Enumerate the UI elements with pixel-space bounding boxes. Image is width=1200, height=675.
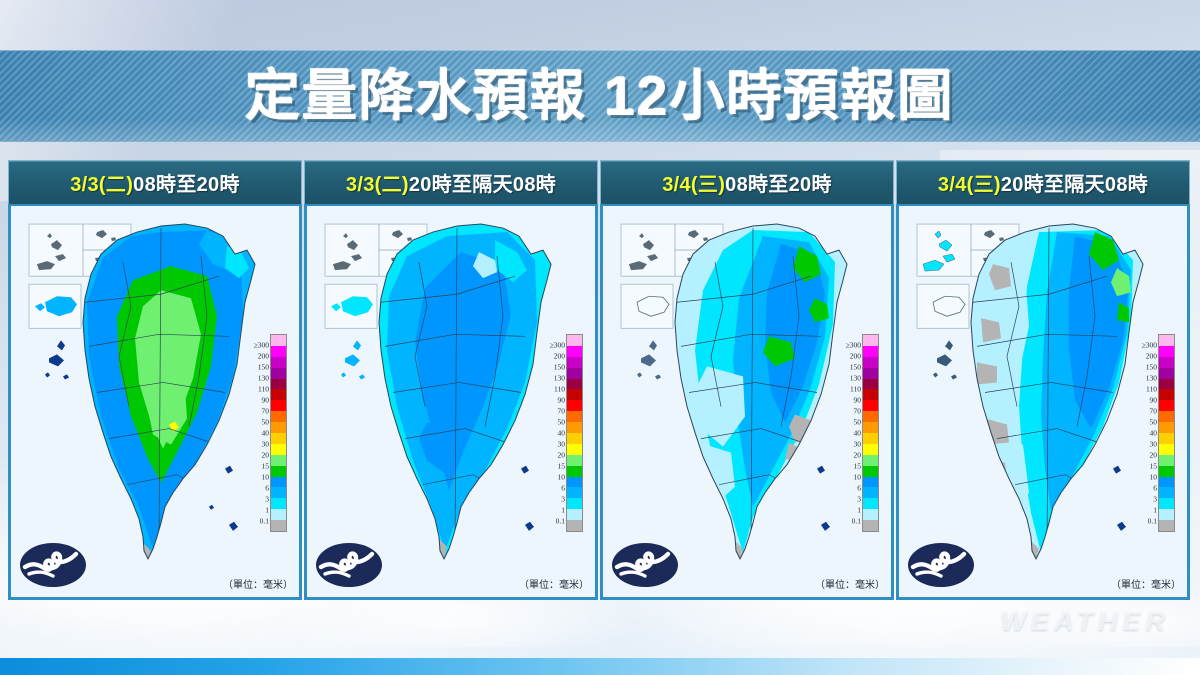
legend-swatch-7 — [271, 411, 286, 422]
forecast-panel-1[interactable]: 3/3(二)08時至20時 — [8, 160, 302, 600]
panel-1-header: 3/3(二)08時至20時 — [8, 160, 302, 204]
panel-3-legend: ≥30020015013011090705040302015106310.1 — [828, 334, 884, 532]
legend-label-11: 15 — [854, 461, 862, 470]
legend-swatch-0 — [863, 335, 878, 346]
legend-label-1: 200 — [258, 352, 269, 361]
legend-swatch-8 — [1159, 422, 1174, 433]
panel-2-header: 3/3(二)20時至隔天08時 — [304, 160, 598, 204]
legend-swatch-9 — [1159, 433, 1174, 444]
legend-label-2: 150 — [554, 362, 565, 371]
cwb-logo — [611, 541, 679, 589]
legend-swatch-3 — [567, 368, 582, 379]
panel-4-legend: ≥30020015013011090705040302015106310.1 — [1124, 334, 1180, 532]
legend-swatch-15 — [1159, 498, 1174, 509]
legend-label-12: 10 — [1150, 473, 1158, 482]
legend-swatch-4 — [271, 379, 286, 390]
legend-label-5: 90 — [1150, 395, 1158, 404]
legend-label-12: 10 — [558, 473, 566, 482]
legend-label-0: ≥300 — [550, 341, 565, 350]
legend-label-3: 130 — [258, 374, 269, 383]
legend-swatch-9 — [863, 433, 878, 444]
panel-3-header: 3/4(三)08時至20時 — [600, 160, 894, 204]
panel-1-legend: ≥30020015013011090705040302015106310.1 — [236, 334, 292, 532]
legend-label-1: 200 — [1146, 352, 1157, 361]
legend-label-7: 50 — [262, 418, 270, 427]
legend-label-10: 20 — [262, 451, 270, 460]
legend-label-7: 50 — [854, 418, 862, 427]
forecast-panel-grid: 3/3(二)08時至20時 — [8, 160, 1192, 600]
legend-label-1: 200 — [554, 352, 565, 361]
legend-swatch-12 — [271, 466, 286, 477]
legend-swatch-13 — [1159, 477, 1174, 488]
legend-label-6: 70 — [854, 407, 862, 416]
legend-swatch-6 — [863, 400, 878, 411]
legend-swatch-6 — [1159, 400, 1174, 411]
legend-swatch-3 — [863, 368, 878, 379]
panel-4-title: 3/4(三)20時至隔天08時 — [938, 168, 1148, 197]
legend-swatch-2 — [567, 357, 582, 368]
legend-label-15: 1 — [1153, 506, 1157, 515]
legend-label-6: 70 — [262, 407, 270, 416]
panel-1-period: 08時至20時 — [133, 174, 240, 196]
legend-swatch-14 — [1159, 487, 1174, 498]
legend-label-16: 0.1 — [1148, 517, 1157, 526]
legend-swatch-12 — [567, 466, 582, 477]
legend-label-13: 6 — [265, 484, 269, 493]
legend-label-16: 0.1 — [556, 517, 565, 526]
legend-label-0: ≥300 — [1142, 341, 1157, 350]
legend-swatch-5 — [1159, 389, 1174, 400]
legend-swatch-1 — [1159, 346, 1174, 357]
legend-colorbar-3 — [862, 334, 879, 532]
legend-label-15: 1 — [561, 506, 565, 515]
panel-2-date: 3/3(二) — [346, 174, 409, 196]
legend-swatch-9 — [271, 433, 286, 444]
panel-4-period: 20時至隔天08時 — [1001, 174, 1148, 196]
legend-swatch-10 — [863, 444, 878, 455]
legend-unit-3: （單位：毫米） — [815, 576, 885, 591]
legend-label-9: 30 — [1150, 440, 1158, 449]
legend-label-5: 90 — [558, 395, 566, 404]
legend-swatch-1 — [863, 346, 878, 357]
legend-swatch-3 — [271, 368, 286, 379]
legend-label-14: 3 — [265, 495, 269, 504]
legend-unit-4: （單位：毫米） — [1111, 576, 1181, 591]
panel-1-date: 3/3(二) — [70, 174, 133, 196]
legend-label-8: 40 — [262, 429, 270, 438]
legend-swatch-5 — [863, 389, 878, 400]
legend-swatch-15 — [567, 498, 582, 509]
legend-label-3: 130 — [1146, 374, 1157, 383]
legend-label-14: 3 — [1153, 495, 1157, 504]
cwb-logo — [19, 541, 87, 589]
legend-swatch-17 — [863, 520, 878, 531]
legend-swatch-12 — [863, 466, 878, 477]
legend-unit-2: （單位：毫米） — [519, 576, 589, 591]
legend-label-4: 110 — [850, 385, 861, 394]
panel-2-map[interactable]: ≥30020015013011090705040302015106310.1 （… — [304, 204, 598, 600]
legend-label-15: 1 — [857, 506, 861, 515]
legend-swatch-8 — [567, 422, 582, 433]
legend-label-11: 15 — [1150, 461, 1158, 470]
legend-label-11: 15 — [558, 461, 566, 470]
legend-swatch-3 — [1159, 368, 1174, 379]
legend-swatch-8 — [863, 422, 878, 433]
legend-label-9: 30 — [262, 440, 270, 449]
legend-swatch-13 — [567, 477, 582, 488]
legend-swatch-16 — [1159, 509, 1174, 520]
legend-swatch-4 — [863, 379, 878, 390]
legend-label-10: 20 — [558, 451, 566, 460]
legend-label-8: 40 — [854, 429, 862, 438]
weather-watermark: WEATHER — [1001, 606, 1171, 637]
legend-swatch-10 — [271, 444, 286, 455]
legend-label-2: 150 — [1146, 362, 1157, 371]
legend-swatch-6 — [271, 400, 286, 411]
bottom-accent-strip — [0, 658, 1200, 675]
legend-swatch-9 — [567, 433, 582, 444]
legend-label-12: 10 — [854, 473, 862, 482]
legend-label-2: 150 — [258, 362, 269, 371]
legend-swatch-13 — [271, 477, 286, 488]
legend-swatch-14 — [863, 487, 878, 498]
legend-swatch-7 — [1159, 411, 1174, 422]
forecast-panel-3[interactable]: 3/4(三)08時至20時 — [600, 160, 894, 600]
cwb-logo — [315, 541, 383, 589]
legend-swatch-5 — [567, 389, 582, 400]
legend-swatch-7 — [567, 411, 582, 422]
legend-swatch-16 — [863, 509, 878, 520]
legend-labels-4: ≥30020015013011090705040302015106310.1 — [1124, 334, 1158, 532]
legend-swatch-0 — [567, 335, 582, 346]
legend-label-7: 50 — [558, 418, 566, 427]
legend-label-12: 10 — [262, 473, 270, 482]
legend-labels-1: ≥30020015013011090705040302015106310.1 — [236, 334, 270, 532]
legend-swatch-2 — [271, 357, 286, 368]
legend-swatch-15 — [863, 498, 878, 509]
forecast-panel-2[interactable]: 3/3(二)20時至隔天08時 — [304, 160, 598, 600]
legend-swatch-7 — [863, 411, 878, 422]
legend-label-1: 200 — [850, 352, 861, 361]
legend-swatch-0 — [1159, 335, 1174, 346]
legend-label-9: 30 — [558, 440, 566, 449]
legend-label-13: 6 — [857, 484, 861, 493]
panel-3-map[interactable]: ≥30020015013011090705040302015106310.1 （… — [600, 204, 894, 600]
panel-3-period: 08時至20時 — [725, 174, 832, 196]
legend-swatch-17 — [567, 520, 582, 531]
panel-4-header: 3/4(三)20時至隔天08時 — [896, 160, 1190, 204]
legend-label-6: 70 — [558, 407, 566, 416]
legend-labels-2: ≥30020015013011090705040302015106310.1 — [532, 334, 566, 532]
legend-label-5: 90 — [854, 395, 862, 404]
legend-label-11: 15 — [262, 461, 270, 470]
panel-4-map[interactable]: ≥30020015013011090705040302015106310.1 （… — [896, 204, 1190, 600]
legend-label-4: 110 — [554, 385, 565, 394]
panel-2-legend: ≥30020015013011090705040302015106310.1 — [532, 334, 588, 532]
legend-swatch-11 — [863, 455, 878, 466]
legend-unit-1: （單位：毫米） — [223, 576, 293, 591]
legend-swatch-14 — [271, 487, 286, 498]
legend-swatch-2 — [1159, 357, 1174, 368]
cwb-logo — [907, 541, 975, 589]
legend-swatch-1 — [271, 346, 286, 357]
panel-2-title: 3/3(二)20時至隔天08時 — [346, 168, 556, 197]
legend-label-6: 70 — [1150, 407, 1158, 416]
legend-swatch-16 — [271, 509, 286, 520]
legend-label-13: 6 — [561, 484, 565, 493]
legend-swatch-11 — [271, 455, 286, 466]
legend-swatch-15 — [271, 498, 286, 509]
legend-swatch-11 — [1159, 455, 1174, 466]
legend-label-0: ≥300 — [254, 341, 269, 350]
legend-swatch-0 — [271, 335, 286, 346]
legend-label-3: 130 — [554, 374, 565, 383]
legend-swatch-4 — [1159, 379, 1174, 390]
legend-label-0: ≥300 — [846, 341, 861, 350]
legend-label-16: 0.1 — [852, 517, 861, 526]
legend-swatch-1 — [567, 346, 582, 357]
legend-colorbar-2 — [566, 334, 583, 532]
legend-swatch-13 — [863, 477, 878, 488]
legend-label-16: 0.1 — [260, 517, 269, 526]
legend-swatch-8 — [271, 422, 286, 433]
legend-swatch-6 — [567, 400, 582, 411]
legend-label-13: 6 — [1153, 484, 1157, 493]
legend-swatch-17 — [271, 520, 286, 531]
title-banner: 定量降水預報 12小時預報圖 — [0, 50, 1200, 142]
panel-3-date: 3/4(三) — [662, 174, 725, 196]
panel-4-date: 3/4(三) — [938, 174, 1001, 196]
panel-2-period: 20時至隔天08時 — [409, 174, 556, 196]
legend-label-4: 110 — [1146, 385, 1157, 394]
legend-label-8: 40 — [558, 429, 566, 438]
legend-swatch-4 — [567, 379, 582, 390]
legend-label-4: 110 — [258, 385, 269, 394]
legend-colorbar-1 — [270, 334, 287, 532]
legend-label-5: 90 — [262, 395, 270, 404]
legend-swatch-10 — [567, 444, 582, 455]
panel-1-map[interactable]: ≥30020015013011090705040302015106310.1 （… — [8, 204, 302, 600]
legend-swatch-11 — [567, 455, 582, 466]
legend-swatch-10 — [1159, 444, 1174, 455]
legend-swatch-2 — [863, 357, 878, 368]
panel-1-title: 3/3(二)08時至20時 — [70, 168, 240, 197]
legend-swatch-16 — [567, 509, 582, 520]
legend-label-10: 20 — [854, 451, 862, 460]
legend-swatch-12 — [1159, 466, 1174, 477]
legend-swatch-17 — [1159, 520, 1174, 531]
legend-swatch-5 — [271, 389, 286, 400]
legend-label-10: 20 — [1150, 451, 1158, 460]
legend-label-9: 30 — [854, 440, 862, 449]
panel-3-title: 3/4(三)08時至20時 — [662, 168, 832, 197]
legend-colorbar-4 — [1158, 334, 1175, 532]
legend-label-7: 50 — [1150, 418, 1158, 427]
page-title: 定量降水預報 12小時預報圖 — [245, 69, 954, 124]
legend-label-3: 130 — [850, 374, 861, 383]
legend-label-14: 3 — [857, 495, 861, 504]
legend-labels-3: ≥30020015013011090705040302015106310.1 — [828, 334, 862, 532]
legend-swatch-14 — [567, 487, 582, 498]
legend-label-2: 150 — [850, 362, 861, 371]
legend-label-14: 3 — [561, 495, 565, 504]
forecast-panel-4[interactable]: 3/4(三)20時至隔天08時 — [896, 160, 1190, 600]
legend-label-15: 1 — [265, 506, 269, 515]
legend-label-8: 40 — [1150, 429, 1158, 438]
